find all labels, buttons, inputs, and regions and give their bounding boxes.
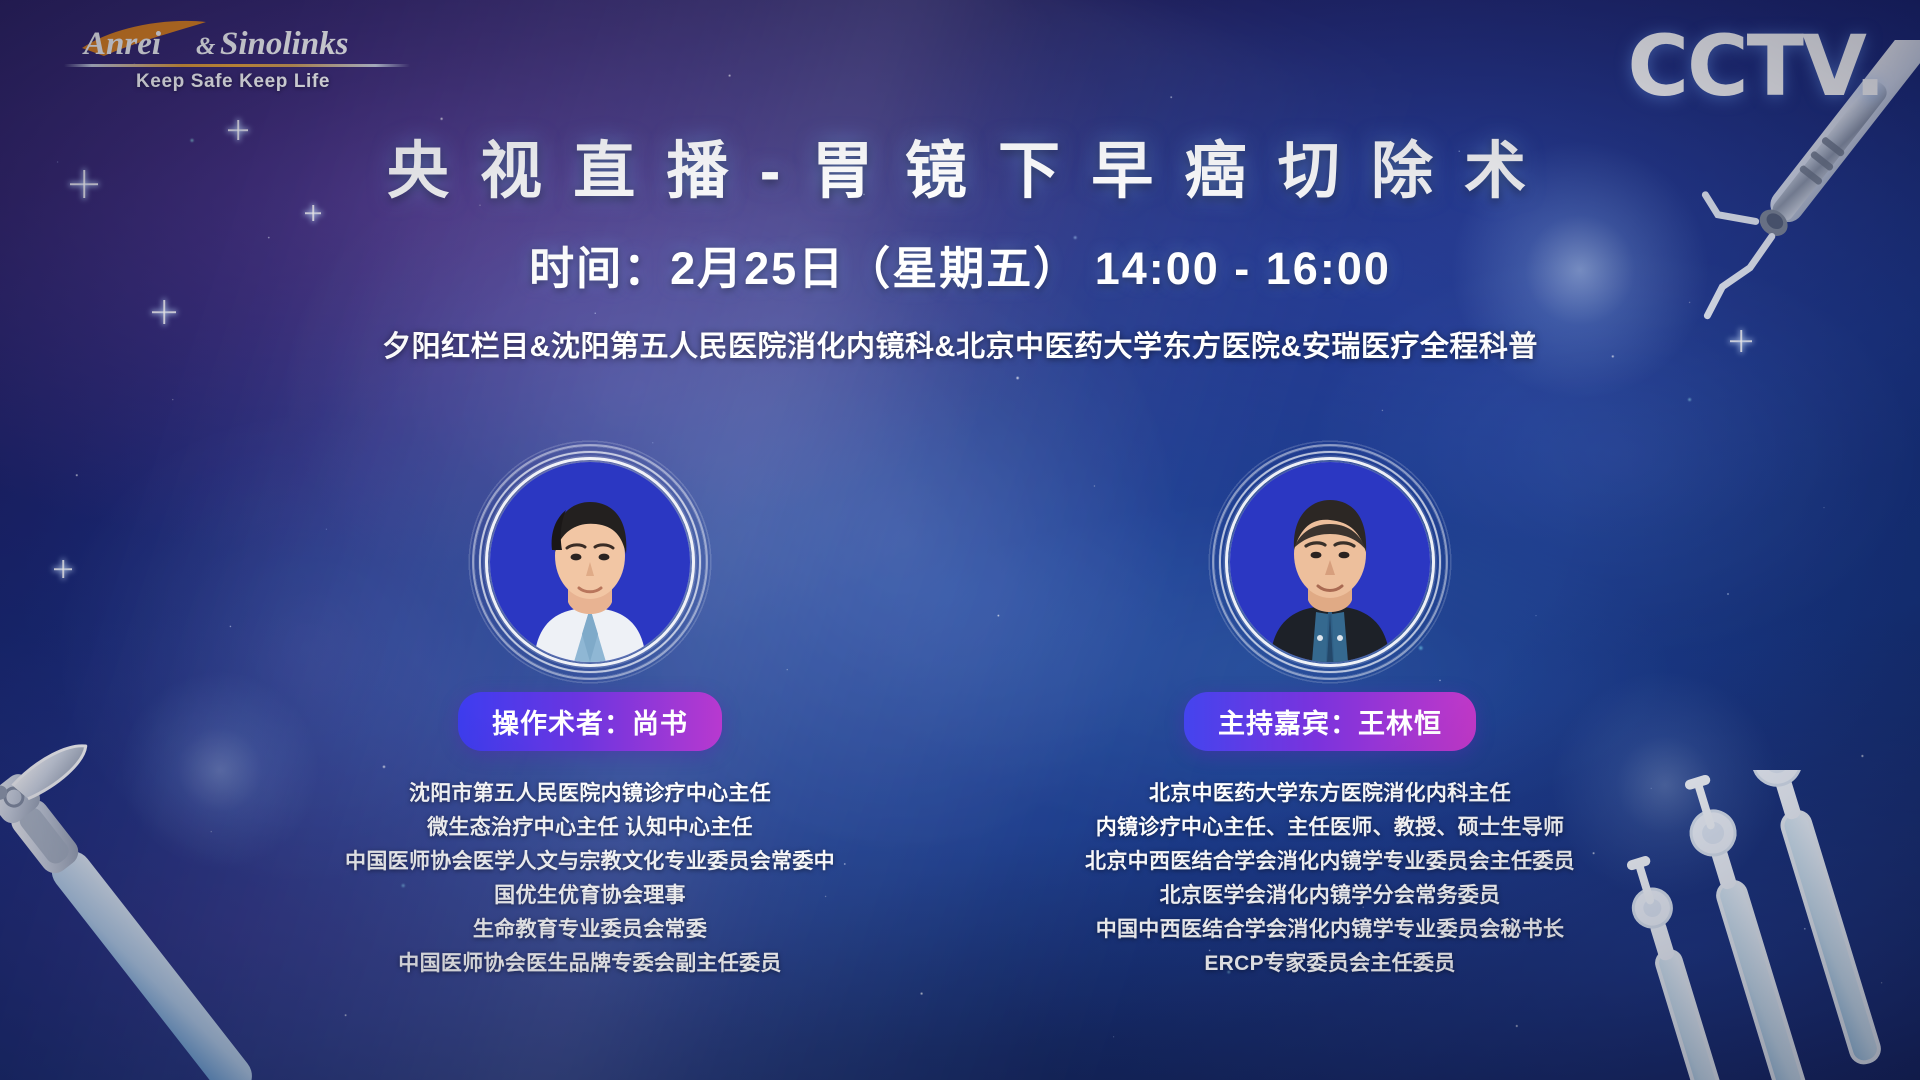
credential-item: 中国中西医结合学会消化内镜学专业委员会秘书长 [1085,913,1575,947]
brand-wordmark: Anrei & Sinolinks [78,18,388,62]
event-partners: 夕阳红栏目&沈阳第五人民医院消化内镜科&北京中医药大学东方医院&安瑞医疗全程科普 [0,323,1920,365]
avatar [1230,462,1430,662]
avatar-photo-wang-linheng [1230,462,1430,662]
credential-item: 沈阳市第五人民医院内镜诊疗中心主任 [345,777,835,811]
brand-name-anrei: Anrei [82,26,162,62]
brand-ampersand: & [196,33,216,60]
sparkle-icon [228,120,248,140]
credential-item: 北京医学会消化内镜学分会常务委员 [1085,879,1575,913]
avatar [490,462,690,662]
brand-logo: Anrei & Sinolinks Keep Safe Keep Life [78,18,388,93]
credential-item: 中国医师协会医生品牌专委会副主任委员 [345,947,835,981]
credential-item: 内镜诊疗中心主任、主任医师、教授、硕士生导师 [1085,811,1575,845]
speakers-section: 操作术者：尚书 沈阳市第五人民医院内镜诊疗中心主任 微生态治疗中心主任 认知中心… [0,462,1920,981]
credential-item: 生命教育专业委员会常委 [345,913,835,947]
credential-item: 微生态治疗中心主任 认知中心主任 [345,811,835,845]
brand-tagline: Keep Safe Keep Life [78,71,388,93]
brand-name-sinolinks: Sinolinks [220,26,348,62]
headline-block: 央 视 直 播 - 胃 镜 下 早 癌 切 除 术 时间：2月25日（星期五） … [0,138,1920,365]
avatar-photo-shang-shu [490,462,690,662]
speaker-credentials-list: 沈阳市第五人民医院内镜诊疗中心主任 微生态治疗中心主任 认知中心主任 中国医师协… [345,777,835,981]
speaker-name-badge: 主持嘉宾：王林恒 [1184,692,1476,751]
speaker-name-badge: 操作术者：尚书 [458,692,722,751]
credential-item: 国优生优育协会理事 [345,879,835,913]
brand-divider-rule [64,64,410,67]
credential-item: 中国医师协会医学人文与宗教文化专业委员会常委中 [345,845,835,879]
credential-item: 北京中西医结合学会消化内镜学专业委员会主任委员 [1085,845,1575,879]
credential-item: ERCP专家委员会主任委员 [1085,947,1575,981]
event-time: 时间：2月25日（星期五） 14:00 - 16:00 [0,232,1920,297]
speaker-credentials-list: 北京中医药大学东方医院消化内科主任 内镜诊疗中心主任、主任医师、教授、硕士生导师… [1085,777,1575,981]
page-title: 央 视 直 播 - 胃 镜 下 早 癌 切 除 术 [0,138,1920,206]
cctv-network-logo: CCTV. [1627,24,1884,108]
speaker-card-operator: 操作术者：尚书 沈阳市第五人民医院内镜诊疗中心主任 微生态治疗中心主任 认知中心… [220,462,960,981]
poster-canvas: Anrei & Sinolinks Keep Safe Keep Life CC… [0,0,1920,1080]
speaker-card-host: 主持嘉宾：王林恒 北京中医药大学东方医院消化内科主任 内镜诊疗中心主任、主任医师… [960,462,1700,981]
credential-item: 北京中医药大学东方医院消化内科主任 [1085,777,1575,811]
